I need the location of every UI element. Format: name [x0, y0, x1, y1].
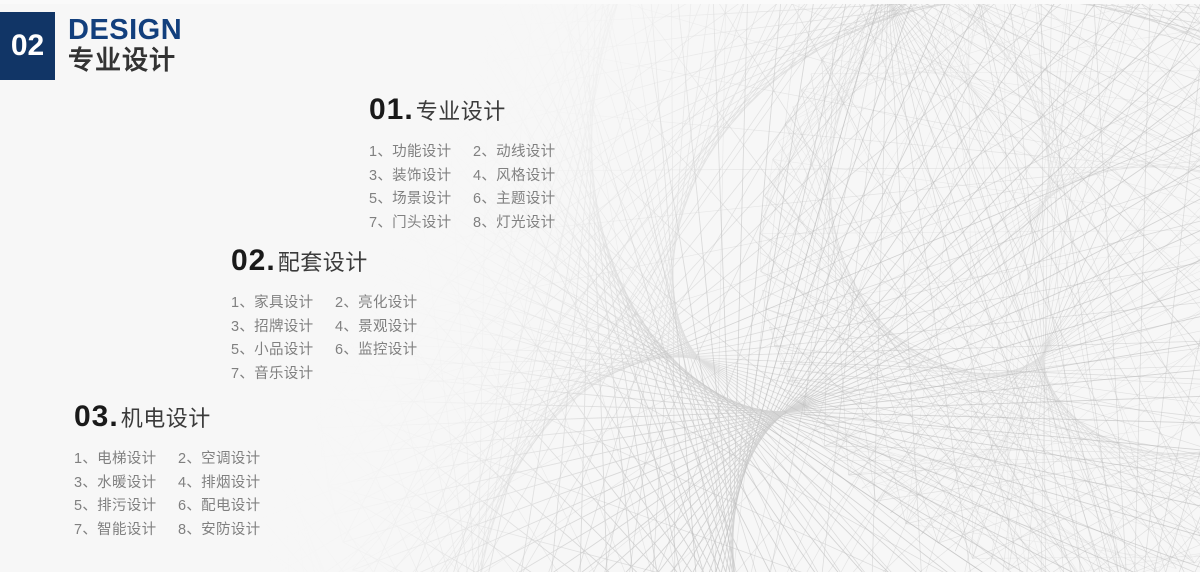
list-item-cell: 3、装饰设计 — [369, 165, 473, 189]
list-item-cell: 7、门头设计 — [369, 212, 473, 236]
section-1-title: 专业设计 — [416, 94, 506, 126]
slide-canvas: 02 DESIGN 专业设计 01. 专业设计 1、功能设计 2、动线设计 3、… — [0, 0, 1200, 572]
list-item: 5、排污设计 6、配电设计 — [74, 495, 260, 519]
list-item: 1、电梯设计 2、空调设计 — [74, 448, 260, 472]
list-item-cell: 5、场景设计 — [369, 188, 473, 212]
section-1-number: 01. — [369, 93, 414, 127]
list-item-cell: 4、排烟设计 — [178, 472, 260, 496]
section-3-item-list: 1、电梯设计 2、空调设计 3、水暖设计 4、排烟设计 5、排污设计 6、配电设… — [74, 448, 260, 542]
list-item-cell: 2、亮化设计 — [335, 292, 417, 316]
slide-header: 02 DESIGN 专业设计 — [0, 12, 182, 80]
list-item-cell: 6、主题设计 — [473, 188, 555, 212]
content-section-1: 01. 专业设计 1、功能设计 2、动线设计 3、装饰设计 4、风格设计 5、场… — [369, 93, 555, 235]
content-section-3: 03. 机电设计 1、电梯设计 2、空调设计 3、水暖设计 4、排烟设计 5、排… — [74, 400, 260, 542]
list-item: 7、门头设计 8、灯光设计 — [369, 212, 555, 236]
list-item: 5、小品设计 6、监控设计 — [231, 339, 417, 363]
header-title-english: DESIGN — [68, 14, 182, 46]
top-edge-strip — [0, 0, 1200, 4]
section-1-item-list: 1、功能设计 2、动线设计 3、装饰设计 4、风格设计 5、场景设计 6、主题设… — [369, 141, 555, 235]
section-number-badge: 02 — [0, 12, 55, 80]
list-item-cell: 4、景观设计 — [335, 316, 417, 340]
badge-number-label: 02 — [11, 31, 44, 61]
section-1-heading: 01. 专业设计 — [369, 93, 555, 127]
section-3-number: 03. — [74, 400, 119, 434]
header-title-group: DESIGN 专业设计 — [68, 14, 182, 75]
list-item-cell: 3、招牌设计 — [231, 316, 335, 340]
list-item: 3、水暖设计 4、排烟设计 — [74, 472, 260, 496]
list-item-cell: 5、排污设计 — [74, 495, 178, 519]
section-3-heading: 03. 机电设计 — [74, 400, 260, 434]
list-item-cell: 3、水暖设计 — [74, 472, 178, 496]
section-2-title: 配套设计 — [278, 245, 368, 277]
list-item-cell: 1、功能设计 — [369, 141, 473, 165]
list-item-cell: 6、配电设计 — [178, 495, 260, 519]
list-item: 7、智能设计 8、安防设计 — [74, 519, 260, 543]
list-item: 7、音乐设计 — [231, 363, 417, 387]
list-item-cell: 1、电梯设计 — [74, 448, 178, 472]
list-item-cell: 7、音乐设计 — [231, 363, 335, 387]
list-item-cell: 4、风格设计 — [473, 165, 555, 189]
header-title-chinese: 专业设计 — [68, 45, 182, 75]
list-item-cell: 1、家具设计 — [231, 292, 335, 316]
list-item: 5、场景设计 6、主题设计 — [369, 188, 555, 212]
section-3-title: 机电设计 — [121, 401, 211, 433]
list-item: 3、装饰设计 4、风格设计 — [369, 165, 555, 189]
section-2-item-list: 1、家具设计 2、亮化设计 3、招牌设计 4、景观设计 5、小品设计 6、监控设… — [231, 292, 417, 386]
section-2-number: 02. — [231, 244, 276, 278]
list-item: 3、招牌设计 4、景观设计 — [231, 316, 417, 340]
list-item-cell: 5、小品设计 — [231, 339, 335, 363]
list-item-cell: 6、监控设计 — [335, 339, 417, 363]
list-item-cell: 8、灯光设计 — [473, 212, 555, 236]
list-item-cell: 2、动线设计 — [473, 141, 555, 165]
list-item: 1、功能设计 2、动线设计 — [369, 141, 555, 165]
list-item-cell: 2、空调设计 — [178, 448, 260, 472]
list-item-cell: 8、安防设计 — [178, 519, 260, 543]
list-item-cell: 7、智能设计 — [74, 519, 178, 543]
list-item: 1、家具设计 2、亮化设计 — [231, 292, 417, 316]
section-2-heading: 02. 配套设计 — [231, 244, 417, 278]
content-section-2: 02. 配套设计 1、家具设计 2、亮化设计 3、招牌设计 4、景观设计 5、小… — [231, 244, 417, 386]
